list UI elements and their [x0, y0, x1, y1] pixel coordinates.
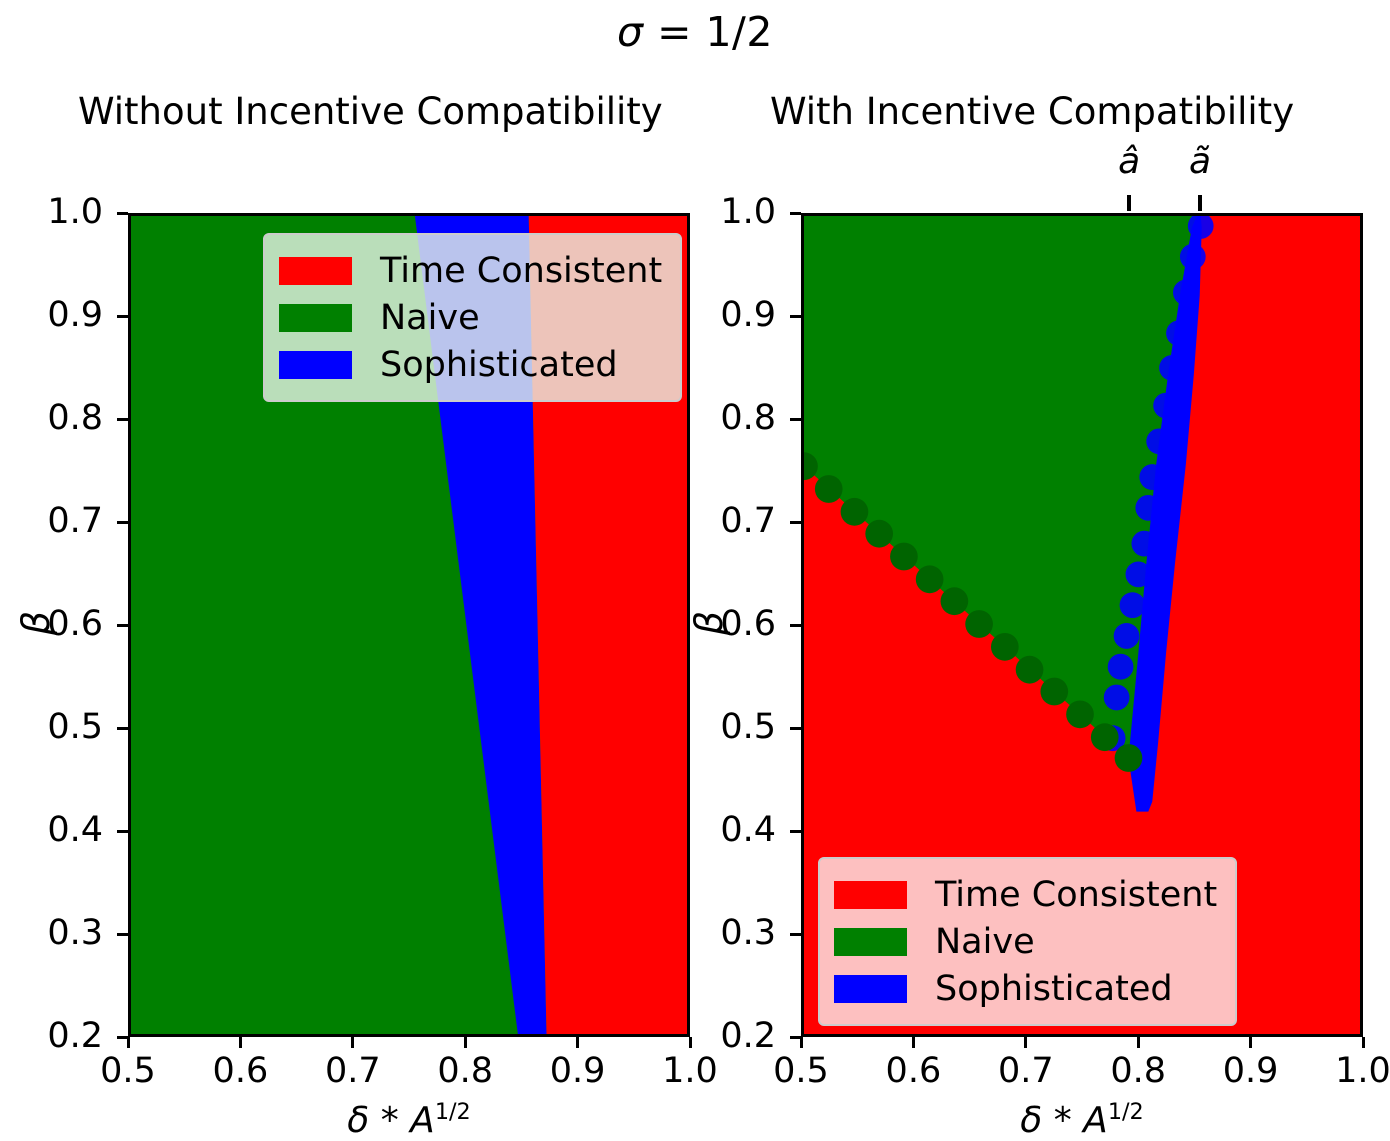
xtick-mark-right-0.8 — [1137, 1037, 1140, 1048]
toptick-label-right-1: ã — [1165, 141, 1235, 182]
figure-suptitle: σ = 1/2 — [0, 4, 1390, 60]
ytick-label-right-0.8: 0.8 — [676, 398, 776, 438]
yaxis-label-right: β — [687, 599, 731, 647]
legend-swatch-time-consistent — [834, 881, 907, 909]
ytick-label-left-0.4: 0.4 — [3, 810, 103, 850]
toptick-mark-right-0 — [1127, 195, 1131, 211]
legend-swatch-naive — [834, 928, 907, 956]
legend-right: Time Consistent Naive Sophisticated — [818, 857, 1237, 1026]
ytick-mark-right-0.6 — [790, 624, 801, 627]
ytick-mark-left-0.9 — [117, 315, 128, 318]
legend-item: Time Consistent — [834, 871, 1217, 918]
xtick-label-left-0.5: 0.5 — [73, 1051, 183, 1091]
ytick-mark-left-0.3 — [117, 933, 128, 936]
legend-item: Sophisticated — [279, 341, 662, 388]
ytick-label-right-0.7: 0.7 — [676, 501, 776, 541]
legend-label-naive: Naive — [380, 298, 480, 338]
suptitle-sigma: σ — [617, 8, 644, 56]
legend-swatch-sophisticated — [834, 975, 907, 1003]
ytick-mark-left-0.4 — [117, 830, 128, 833]
legend-label-naive: Naive — [935, 922, 1035, 962]
legend-swatch-time-consistent — [279, 257, 352, 285]
xtick-label-right-0.7: 0.7 — [971, 1051, 1081, 1091]
xaxis-label-right: δ * A1/2 — [992, 1099, 1172, 1141]
ytick-mark-left-0.6 — [117, 624, 128, 627]
ytick-mark-right-0.3 — [790, 933, 801, 936]
xtick-label-left-1.0: 1.0 — [635, 1051, 745, 1091]
ytick-mark-left-1.0 — [117, 212, 128, 215]
legend-item: Time Consistent — [279, 247, 662, 294]
ytick-mark-right-1.0 — [790, 212, 801, 215]
ytick-label-right-0.5: 0.5 — [676, 707, 776, 747]
legend-label-time-consistent: Time Consistent — [935, 875, 1217, 915]
ytick-label-left-0.3: 0.3 — [3, 913, 103, 953]
xtick-mark-left-0.5 — [127, 1037, 130, 1048]
xtick-mark-right-0.6 — [912, 1037, 915, 1048]
xtick-label-right-1.0: 1.0 — [1308, 1051, 1390, 1091]
figure-root: σ = 1/2 Without Incentive Compatibility … — [0, 0, 1390, 1137]
xaxis-label-left: δ * A1/2 — [319, 1099, 499, 1141]
ytick-mark-right-0.8 — [790, 418, 801, 421]
suptitle-value: = 1/2 — [657, 8, 773, 56]
ytick-mark-right-0.4 — [790, 830, 801, 833]
ytick-mark-left-0.8 — [117, 418, 128, 421]
panel-title-left: Without Incentive Compatibility — [78, 88, 663, 136]
ytick-label-left-0.2: 0.2 — [3, 1016, 103, 1056]
legend-label-sophisticated: Sophisticated — [935, 969, 1173, 1009]
ytick-mark-right-0.5 — [790, 727, 801, 730]
toptick-label-right-0: â — [1094, 141, 1164, 182]
ytick-label-left-0.9: 0.9 — [3, 295, 103, 335]
ytick-label-left-0.5: 0.5 — [3, 707, 103, 747]
toptick-mark-right-1 — [1198, 195, 1202, 211]
xtick-mark-right-1.0 — [1362, 1037, 1365, 1048]
xtick-mark-left-0.6 — [239, 1037, 242, 1048]
legend-label-sophisticated: Sophisticated — [380, 345, 618, 385]
legend-item: Naive — [279, 294, 662, 341]
legend-left: Time Consistent Naive Sophisticated — [263, 233, 682, 402]
xtick-mark-right-0.9 — [1249, 1037, 1252, 1048]
legend-swatch-naive — [279, 304, 352, 332]
legend-item: Sophisticated — [834, 965, 1217, 1012]
xtick-label-left-0.8: 0.8 — [410, 1051, 520, 1091]
ytick-mark-right-0.9 — [790, 315, 801, 318]
ytick-label-right-0.4: 0.4 — [676, 810, 776, 850]
yaxis-label-left: β — [14, 599, 58, 647]
xtick-label-right-0.5: 0.5 — [746, 1051, 856, 1091]
ytick-label-right-0.3: 0.3 — [676, 913, 776, 953]
ytick-label-right-1.0: 1.0 — [676, 192, 776, 232]
ytick-label-left-1.0: 1.0 — [3, 192, 103, 232]
xtick-label-left-0.7: 0.7 — [298, 1051, 408, 1091]
xtick-mark-left-0.8 — [464, 1037, 467, 1048]
xtick-label-right-0.8: 0.8 — [1083, 1051, 1193, 1091]
xtick-mark-right-0.7 — [1024, 1037, 1027, 1048]
xtick-mark-right-0.5 — [800, 1037, 803, 1048]
ytick-mark-left-0.5 — [117, 727, 128, 730]
ytick-mark-right-0.7 — [790, 521, 801, 524]
xtick-label-left-0.6: 0.6 — [185, 1051, 295, 1091]
xtick-label-left-0.9: 0.9 — [523, 1051, 633, 1091]
xtick-label-right-0.9: 0.9 — [1196, 1051, 1306, 1091]
ytick-mark-left-0.7 — [117, 521, 128, 524]
legend-label-time-consistent: Time Consistent — [380, 251, 662, 291]
legend-item: Naive — [834, 918, 1217, 965]
ytick-label-left-0.8: 0.8 — [3, 398, 103, 438]
xtick-mark-left-0.9 — [576, 1037, 579, 1048]
ytick-label-right-0.9: 0.9 — [676, 295, 776, 335]
xtick-mark-left-0.7 — [351, 1037, 354, 1048]
panel-title-right: With Incentive Compatibility — [770, 88, 1294, 136]
legend-swatch-sophisticated — [279, 351, 352, 379]
ytick-label-left-0.7: 0.7 — [3, 501, 103, 541]
xtick-label-right-0.6: 0.6 — [858, 1051, 968, 1091]
ytick-label-right-0.2: 0.2 — [676, 1016, 776, 1056]
